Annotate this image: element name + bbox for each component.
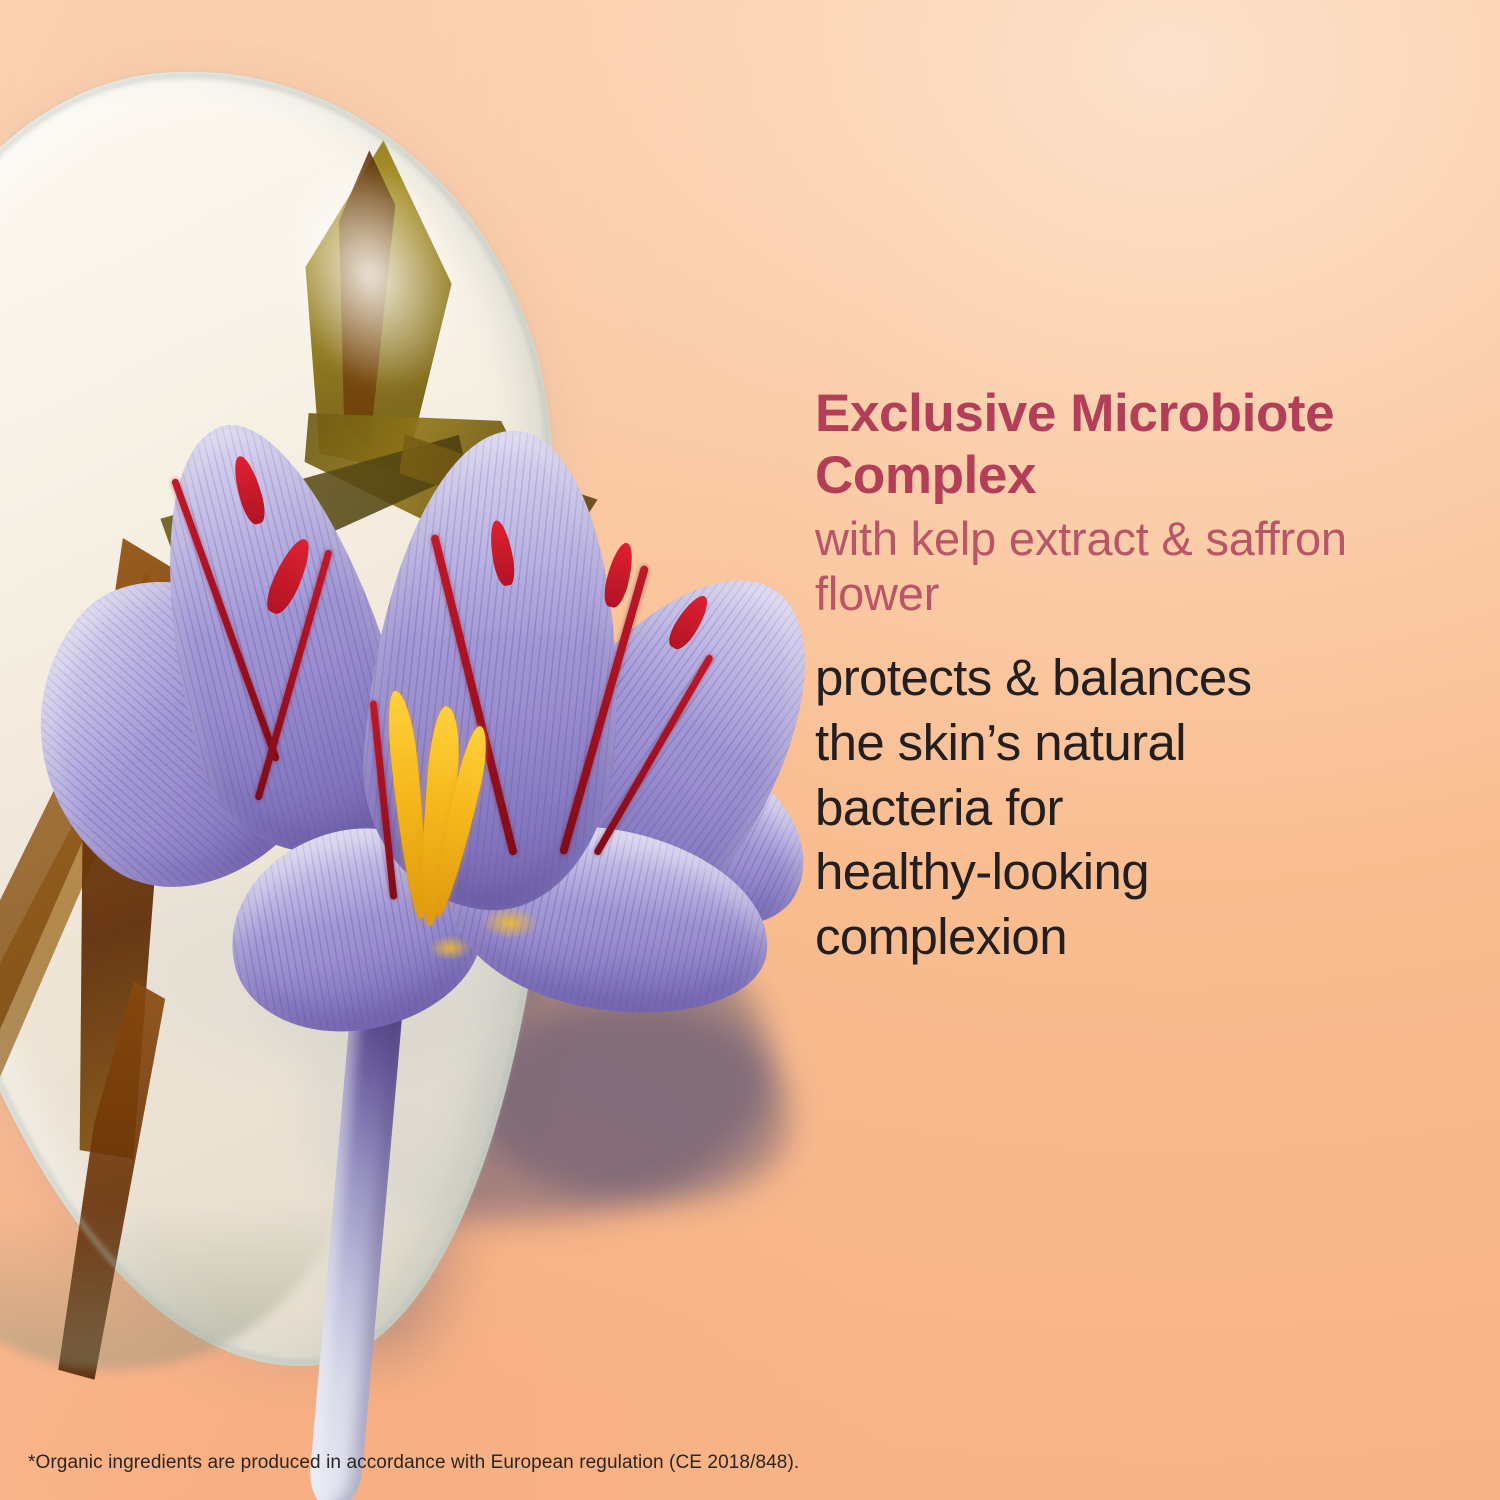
pollen-dust-1	[470, 900, 550, 946]
headline: Exclusive Microbiote Complex	[815, 383, 1475, 507]
copy-block: Exclusive Microbiote Complex with kelp e…	[815, 383, 1475, 970]
pollen-dust-2	[420, 930, 480, 966]
body-copy: protects & balances the skin’s natural b…	[815, 646, 1475, 970]
body-line-5: complexion	[815, 905, 1475, 970]
body-line-3: bacteria for	[815, 776, 1475, 841]
body-line-2: the skin’s natural	[815, 711, 1475, 776]
product-benefit-panel: Exclusive Microbiote Complex with kelp e…	[0, 0, 1500, 1500]
footnote-disclaimer: *Organic ingredients are produced in acc…	[28, 1452, 799, 1474]
body-line-1: protects & balances	[815, 646, 1475, 711]
body-line-4: healthy-looking	[815, 840, 1475, 905]
headline-line-1: Exclusive	[815, 384, 1056, 443]
subheadline-line-1: with kelp extract &	[815, 512, 1193, 565]
flower-stem	[307, 979, 405, 1500]
saffron-crocus-flower	[0, 0, 900, 1500]
subheadline: with kelp extract & saffron flower	[815, 512, 1475, 622]
